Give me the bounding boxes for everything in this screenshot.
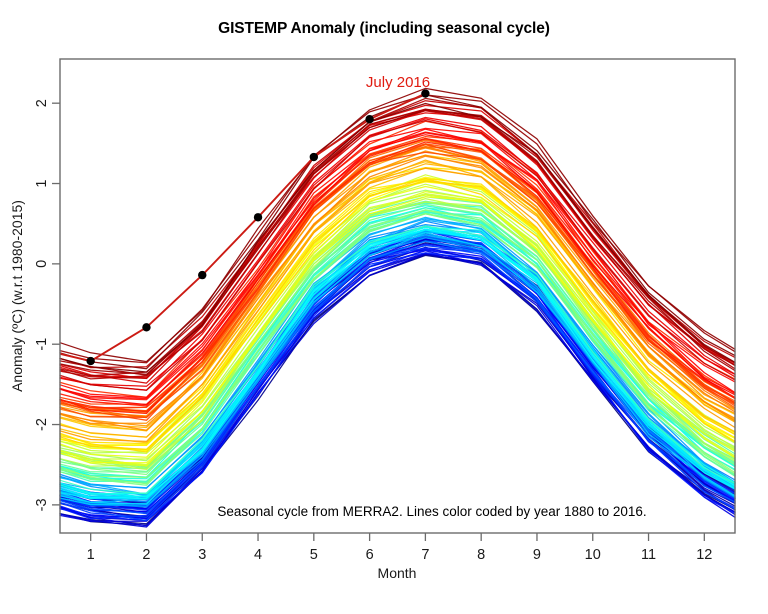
x-tick-label: 8: [477, 547, 485, 563]
x-axis-title: Month: [378, 565, 417, 581]
y-tick-label: 0: [34, 260, 50, 268]
highlight-data-point: [198, 271, 206, 279]
x-axis-ticks: 123456789101112: [87, 533, 713, 563]
highlight-data-point: [142, 323, 150, 331]
highlight-data-point: [365, 115, 373, 123]
y-axis-ticks: 210-1-2-3: [34, 99, 60, 511]
y-tick-label: 1: [34, 179, 50, 187]
highlight-data-point: [310, 153, 318, 161]
x-tick-label: 2: [142, 547, 150, 563]
chart-annotation: Seasonal cycle from MERRA2. Lines color …: [217, 504, 646, 519]
x-tick-label: 7: [421, 547, 429, 563]
y-axis-title: Anomaly (ºC) (w.r.t 1980-2015): [9, 200, 25, 392]
y-tick-label: 2: [34, 99, 50, 107]
chart-canvas: 123456789101112 210-1-2-3 Month Anomaly …: [0, 0, 768, 614]
series-lines-group: [60, 88, 735, 527]
x-tick-label: 6: [366, 547, 374, 563]
x-tick-label: 10: [585, 547, 601, 563]
x-tick-label: 11: [641, 547, 656, 563]
x-tick-label: 5: [310, 547, 318, 563]
x-tick-label: 9: [533, 547, 541, 563]
highlight-label-july-2016: July 2016: [366, 74, 430, 91]
x-tick-label: 12: [696, 547, 712, 563]
x-tick-label: 4: [254, 547, 262, 563]
highlight-data-point: [254, 213, 262, 221]
series-line: [60, 229, 735, 504]
chart-page: GISTEMP Anomaly (including seasonal cycl…: [0, 0, 768, 614]
x-tick-label: 1: [87, 547, 95, 563]
highlight-data-point: [86, 357, 94, 365]
y-tick-label: -3: [34, 498, 50, 511]
y-tick-label: -1: [34, 338, 50, 351]
y-tick-label: -2: [34, 418, 50, 431]
x-tick-label: 3: [198, 547, 206, 563]
